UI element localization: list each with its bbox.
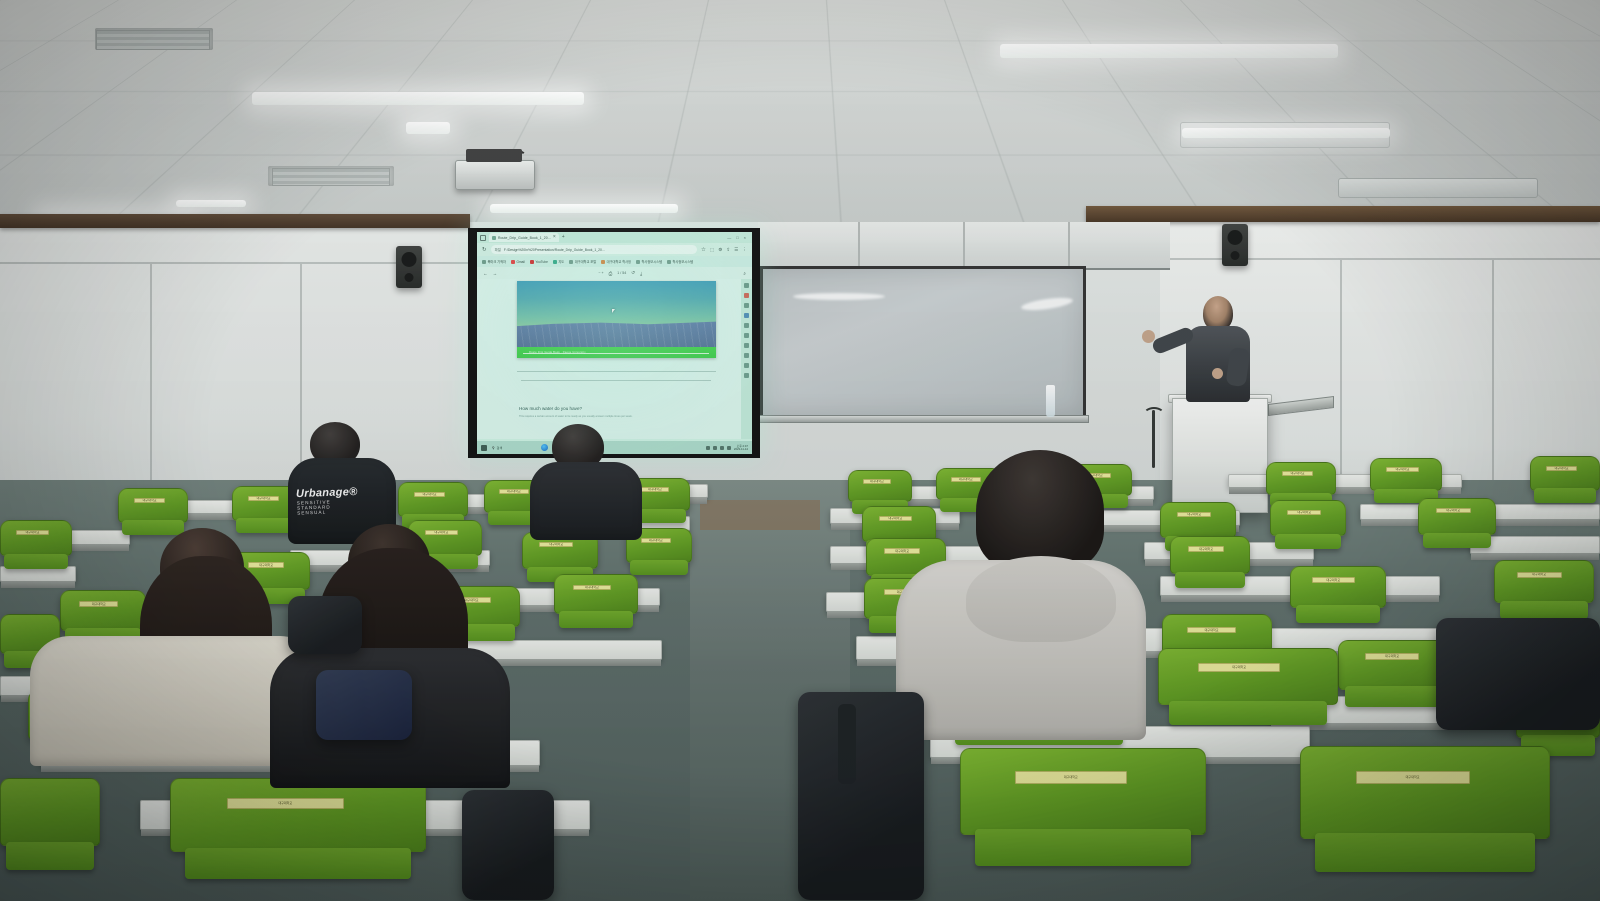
bookmark-label: 대구대학교 포탈 [575,259,596,264]
cabinet-divider [1068,222,1070,270]
ceiling-light [1000,44,1338,58]
chair-seat [1345,686,1451,707]
student-hair [976,450,1104,572]
chair-seat [1423,533,1492,549]
bookmark-label: 학사정보시스템 [673,259,694,264]
chair-back: 대구대학교 [1270,500,1346,536]
wall-speaker-left [396,246,422,288]
system-tray: 오후 2:47 2023-11-14 [706,445,748,451]
bookmark-label: YouTube [535,260,548,264]
bookmark-item[interactable]: 지도 [553,259,564,264]
chair-seat-label: 대구대학교 [1312,577,1355,583]
chair-seat [1296,605,1380,623]
page-subtext: This requires a certain amount of water … [519,415,632,418]
chair-seat-label: 대구대학교 [641,487,670,492]
chair-seat [1500,601,1588,619]
bookmark-label: Gmail [516,260,524,264]
chair-seat-label: 대구대학교 [227,798,344,809]
browser-window: Route_Drip_Guide_Book_1_20... × + — □ × … [477,232,752,454]
chair-seat [185,848,410,879]
chair-back: 대구대학교 [862,506,936,542]
ceiling [0,0,1600,232]
chair: 대구대학교 [1300,746,1550,896]
bookmark-star-icon[interactable]: ☆ [701,247,706,253]
whiteboard [760,266,1086,418]
browser-tab[interactable]: Route_Drip_Guide_Book_1_20... × [489,233,559,242]
chair-seat-label: 대구대학교 [641,538,670,543]
hood [966,556,1116,642]
chair: 대구대학교 [960,748,1206,888]
collections-icon[interactable]: ⇪ [726,247,730,253]
chair-back: 대구대학교 [1418,498,1496,535]
forward-icon[interactable]: → [493,271,498,276]
window-controls: — □ × [727,235,749,240]
chair-back: 대구대학교 [1160,502,1236,538]
downloads-icon[interactable] [744,363,749,368]
chair-seat-label: 대구대학교 [425,530,458,535]
shirt-logo-text: Urbanage® [296,486,358,500]
upper-cabinets [758,222,1170,270]
chair-back: 대구대학교 [170,778,426,852]
reload-icon[interactable]: ↻ [482,247,487,253]
ceiling-light [176,200,246,207]
chair-seat [1175,572,1245,588]
clock-date: 2023-11-14 [734,448,748,451]
portal-icon [569,260,573,264]
chair-seat [975,829,1191,865]
chair-back: 대구대학교 [398,482,468,517]
tab-title: Route_Drip_Guide_Book_1_20... [498,236,551,240]
chair-back: 대구대학교 [1170,536,1250,574]
rotate-icon[interactable]: ↺ [631,270,635,276]
omnibox-action-icons: ⬚ ⚙ ⇪ ☰ ⋮ [710,247,747,253]
bookmark-label: 지도 [558,259,564,264]
bookmark-item[interactable]: 북마크 기적자 [482,259,506,264]
favorites-icon[interactable] [744,353,749,358]
chair: 대구대학교 [554,574,638,638]
chair-seat-label: 대구대학교 [1198,663,1280,671]
chair: 대구대학교 [1170,536,1250,598]
sky-gradient [517,281,716,327]
taskbar-search[interactable]: ⚲ 검색 [492,446,502,450]
wall-speaker-right [1222,224,1248,266]
chair-seat-label: 대구대학교 [414,492,445,497]
banner-caption: Route Drip Guide Book · Daegu University [529,351,586,354]
slide-hero-image: Route Drip Guide Book · Daegu University [517,281,716,358]
chair-seat-label: 대구대학교 [16,530,48,535]
battery-icon[interactable] [727,446,731,450]
chair-seat-label: 대구대학교 [951,477,980,482]
chair-seat-label: 대구대학교 [1188,546,1224,551]
chair-back: 대구대학교 [1266,462,1336,495]
air-vent [96,30,210,50]
chair-seat-label: 대구대학교 [884,548,920,553]
chair-seat-label: 대구대학교 [863,479,892,484]
chair-back [0,778,100,846]
address-bar-url: F:/Design%20In%20Presentation/Route_Drip… [504,248,605,252]
network-icon[interactable] [713,446,717,450]
cabinet-divider [858,222,860,270]
academic-icon [667,260,671,264]
chair-back: 대구대학교 [554,574,638,614]
chair-seat [1275,534,1342,549]
page-heading: How much water do you have? [519,406,582,411]
chair-seat-label: 대구대학교 [1187,627,1237,634]
ceiling-light [252,92,584,105]
ceiling-projector [455,160,535,190]
collections-icon[interactable] [744,343,749,348]
browser-tab-bar: Route_Drip_Guide_Book_1_20... × + — □ × [477,232,752,243]
maps-icon [553,260,557,264]
folder-icon [482,260,486,264]
chair-back: 대구대학교 [118,488,188,523]
pdf-page-content: Route Drip Guide Book · Daegu University… [477,279,752,439]
browser-side-icon-strip [741,279,752,439]
split-screen-icon[interactable]: ⬚ [710,247,714,253]
volume-icon[interactable] [720,446,724,450]
chair-seat-label: 대구대학교 [1517,572,1562,578]
chair-seat-label: 대구대학교 [1015,771,1127,784]
chair: 대구대학교 [1530,456,1600,512]
chair-back: 대구대학교 [60,590,146,631]
chair-seat [4,554,67,569]
new-tab-icon[interactable]: + [562,235,565,240]
bookmark-item[interactable]: 학사정보시스템 [667,259,693,264]
chair-seat [6,842,94,871]
chair-back: 대구대학교 [960,748,1206,835]
bookmark-item[interactable]: 학사정보시스템 [636,259,662,264]
chair: 대구대학교 [1418,498,1496,558]
wooden-step [700,500,820,530]
chair-seat-label: 대구대학교 [539,542,573,547]
podium: 대 구 대 학 교 DAEGU UNIVERSITY [1172,398,1268,513]
chair-seat [1315,833,1535,872]
favorites-icon[interactable]: ☰ [734,247,738,253]
academic-icon [601,260,605,264]
search-icon[interactable]: ⌕ [743,271,746,276]
chair-back: 대구대학교 [1530,456,1600,491]
chair-back: 대구대학교 [1370,458,1442,491]
backpack-right-desk [1436,618,1600,730]
search-placeholder: 검색 [497,446,503,450]
bookmark-item[interactable]: 대구대학교 학사정 [601,259,631,264]
chair-seat-label: 대구대학교 [248,562,284,567]
chair-seat [122,520,184,535]
settings-icon[interactable] [744,303,749,308]
chair: 대구대학교 [170,778,426,898]
wall-seam [1340,260,1342,510]
chair-seat-label: 대구대학교 [1365,653,1419,660]
ac-diffuser [1338,178,1538,198]
chair: 대구대학교 [1270,500,1346,558]
chair-back: 대구대학교 [1158,648,1338,705]
chair-seat-label: 대구대학교 [248,496,279,501]
file-security-label: 파일 [495,247,501,252]
ceiling-light [1182,128,1390,138]
fit-page-icon[interactable]: ⎙ [609,271,613,276]
chair-seat-label: 대구대학교 [1436,508,1471,513]
chair-seat-label: 대구대학교 [573,585,611,591]
chair-seat-label: 대구대학교 [499,489,528,494]
document-favicon [492,236,496,240]
maximize-icon[interactable]: □ [736,235,738,240]
chair-seat [630,560,688,575]
zoom-controls[interactable]: − + [598,271,603,275]
windows-taskbar: ⚲ 검색 오후 2:47 2023-11-14 [477,441,752,454]
back-icon[interactable]: ← [483,271,488,276]
backpack-strap [838,704,856,784]
address-bar[interactable]: 파일 F:/Design%20In%20Presentation/Route_D… [491,245,697,254]
wall-seam [1492,260,1494,500]
chair-back: 대구대학교 [1300,746,1550,839]
bookmark-item[interactable]: 대구대학교 포탈 [569,259,596,264]
chair-seat-label: 대구대학교 [1282,471,1313,476]
download-icon[interactable]: ⤓ [640,271,642,276]
whiteboard-marker-tray [757,415,1089,423]
shirt-sub-text: SENSITIVE STANDARD SENSUAL [297,499,331,515]
chair-seat [1169,701,1327,725]
mouse-cursor [612,309,617,313]
podium-microphone [1152,410,1155,468]
mail-icon[interactable] [744,293,749,298]
ceiling-beam-right [1086,206,1600,222]
bookmark-label: 북마크 기적자 [488,259,506,264]
close-tab-icon[interactable]: × [553,235,556,240]
youtube-icon [530,260,534,264]
chair-seat [1534,488,1596,503]
backpack-left-2 [316,670,412,740]
bookmark-item[interactable]: Gmail [511,260,525,264]
page-rule [517,371,716,372]
bookmark-item[interactable]: YouTube [530,260,548,264]
tab-overview-icon[interactable] [480,235,486,241]
chair-back: 대구대학교 [1290,566,1386,608]
edge-icon[interactable] [541,444,548,451]
start-button-icon[interactable] [481,445,487,451]
whiteboard-glare [1021,295,1074,312]
cabinet-divider [963,222,965,270]
ceiling-light [406,122,450,134]
backpack-right-floor [798,692,924,900]
close-window-icon[interactable]: × [744,235,746,240]
search-icon: ⚲ [492,446,495,450]
more-menu-icon[interactable]: ⋮ [742,247,747,253]
chair: 대구대학교 [1290,566,1386,634]
pdf-viewer-toolbar: ← → − + ⎙ 1 / 54 ↺ ⤓ ⌕ [477,267,752,279]
extension-icon[interactable] [744,323,749,328]
whiteboard-glare [793,293,885,300]
sync-icon[interactable] [744,313,749,318]
presenter-left-hand [1142,330,1155,343]
chair-seat-label: 대구대학교 [879,516,912,521]
chair-back: 대구대학교 [0,520,72,556]
chair-seat [559,611,633,628]
page-indicator: 1 / 54 [617,271,626,275]
chair-back: 대구대학교 [848,470,912,502]
viewer-center-controls: − + ⎙ 1 / 54 ↺ ⤓ [598,270,642,276]
more-icon[interactable] [744,373,749,378]
chair-seat-label: 대구대학교 [1287,510,1321,515]
presenter-right-hand [1212,368,1223,379]
lecture-hall-photo: Route_Drip_Guide_Book_1_20... × + — □ × … [0,0,1600,901]
backpack-floor-left [462,790,554,900]
ceiling-light [490,204,678,213]
chair-seat-label: 대구대학교 [1546,466,1577,471]
history-icon[interactable] [744,333,749,338]
projection-screen: Route_Drip_Guide_Book_1_20... × + — □ × … [468,228,760,458]
chair: 대구대학교 [0,520,72,578]
gmail-icon [511,260,515,264]
minimize-icon[interactable]: — [727,235,731,240]
academic-icon [636,260,640,264]
chair [0,778,100,888]
bookmark-label: 대구대학교 학사정 [607,259,631,264]
ceiling-beam-left [0,214,470,228]
taskbar-clock[interactable]: 오후 2:47 2023-11-14 [734,445,748,451]
water-bottle [1046,385,1055,417]
bookmarks-bar: 북마크 기적자 Gmail YouTube 지도 대구대학교 포탈 대구대학교 … [477,256,752,267]
chair-seat-label: 대구대학교 [1356,771,1470,785]
chair-seat-label: 대구대학교 [79,601,118,607]
page-rule [521,380,711,381]
settings-icon[interactable]: ⚙ [718,247,722,253]
chair-back: 대구대학교 [1494,560,1594,603]
bookmark-label: 학사정보시스템 [642,259,663,264]
air-vent [272,168,390,186]
chevron-up-icon[interactable] [706,446,710,450]
chair: 대구대학교 [1158,648,1338,740]
backpack-left [288,596,362,654]
browser-omnibox-bar: ↻ 파일 F:/Design%20In%20Presentation/Route… [477,243,752,256]
edge-icon[interactable] [744,283,749,288]
student-body [530,462,642,540]
chair-seat-label: 대구대학교 [134,498,165,503]
chair-seat-label: 대구대학교 [1386,467,1418,472]
chair-seat-label: 대구대학교 [1177,512,1211,517]
